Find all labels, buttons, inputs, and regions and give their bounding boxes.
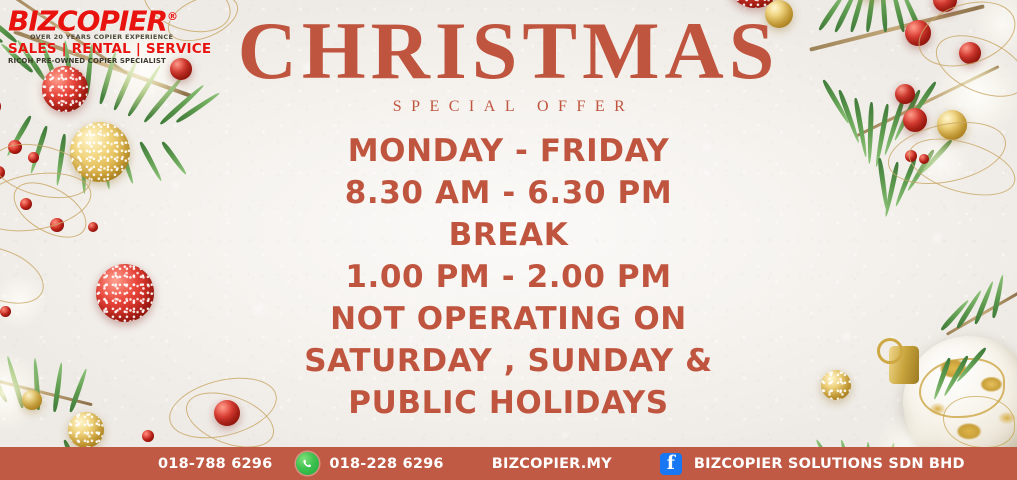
- contact-items: 018-788 6296 018-228 6296 BIZCOPIER.MY f…: [0, 452, 1017, 475]
- logo-tagline-bottom: RICOH PRE-OWNED COPIER SPECIALIST: [8, 57, 168, 65]
- company-logo[interactable]: BIZCOPIER® OVER 20 YEARS COPIER EXPERIEN…: [8, 4, 168, 65]
- logo-services: SALES | RENTAL | SERVICE: [8, 41, 168, 57]
- hours-line: PUBLIC HOLIDAYS: [0, 382, 1017, 424]
- facebook-page-name[interactable]: BIZCOPIER SOLUTIONS SDN BHD: [694, 456, 965, 472]
- operating-hours-block: MONDAY - FRIDAY 8.30 AM - 6.30 PM BREAK …: [0, 130, 1017, 424]
- page-subtitle: SPECIAL OFFER: [0, 98, 1017, 116]
- hours-line: SATURDAY , SUNDAY &: [0, 340, 1017, 382]
- hours-line: NOT OPERATING ON: [0, 298, 1017, 340]
- website-link[interactable]: BIZCOPIER.MY: [492, 456, 612, 472]
- whatsapp-icon[interactable]: [296, 452, 319, 475]
- facebook-glyph: f: [660, 452, 682, 474]
- hours-line: MONDAY - FRIDAY: [0, 130, 1017, 172]
- logo-wordmark: BIZCOPIER®: [8, 4, 168, 34]
- logo-tagline-top: OVER 20 YEARS COPIER EXPERIENCE: [8, 33, 168, 41]
- phone-primary[interactable]: 018-788 6296: [158, 456, 272, 472]
- registered-trademark-icon: ®: [167, 10, 177, 23]
- facebook-icon[interactable]: f: [660, 453, 682, 475]
- hours-line: BREAK: [0, 214, 1017, 256]
- phone-whatsapp[interactable]: 018-228 6296: [329, 456, 443, 472]
- christmas-promo-banner: BIZCOPIER® OVER 20 YEARS COPIER EXPERIEN…: [0, 0, 1017, 480]
- hours-line: 1.00 PM - 2.00 PM: [0, 256, 1017, 298]
- contact-footer: 018-788 6296 018-228 6296 BIZCOPIER.MY f…: [0, 447, 1017, 480]
- hours-line: 8.30 AM - 6.30 PM: [0, 172, 1017, 214]
